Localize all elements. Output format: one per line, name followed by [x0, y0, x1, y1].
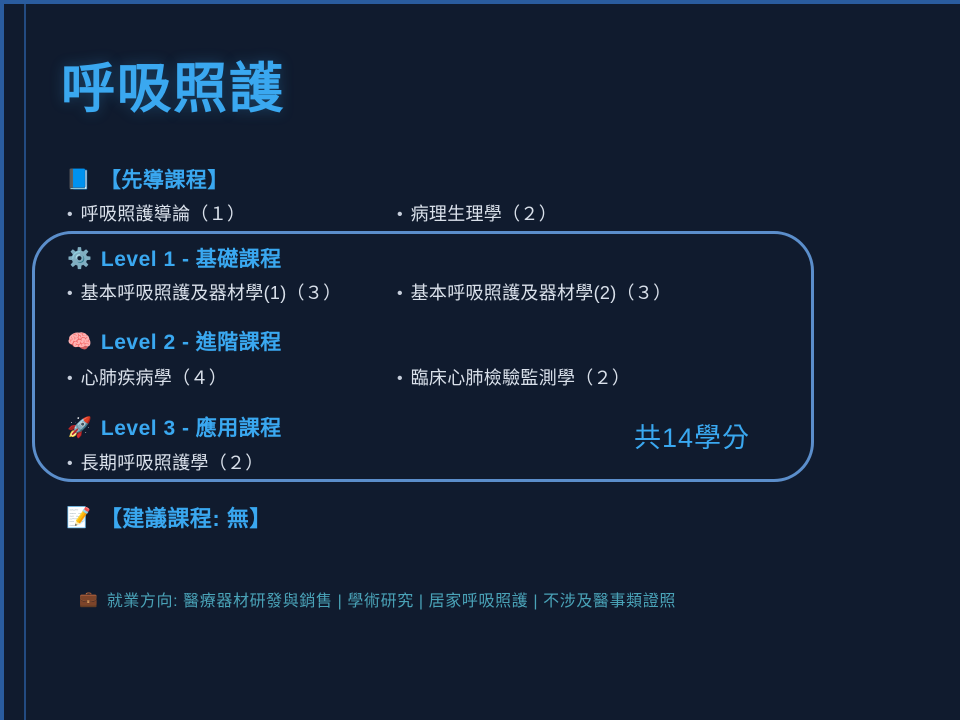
course-item: • 基本呼吸照護及器材學(1)（３） — [67, 279, 397, 305]
left-accent-rule — [24, 4, 26, 720]
course-item: • 臨床心肺檢驗監測學（２） — [397, 364, 797, 390]
career-direction: 💼 就業方向: 醫療器材研發與銷售 | 學術研究 | 居家呼吸照護 | 不涉及醫… — [79, 587, 676, 611]
brain-icon: 🧠 — [67, 331, 92, 351]
blue-book-icon: 📘 — [66, 169, 91, 189]
memo-pencil-icon: 📝 — [66, 507, 91, 527]
section-heading-level-1: ⚙️ Level 1 - 基礎課程 — [67, 243, 282, 273]
career-direction-text: 就業方向: 醫療器材研發與銷售 | 學術研究 | 居家呼吸照護 | 不涉及醫事類… — [107, 587, 676, 611]
section-heading-suggested: 📝 【建議課程: 無】 — [66, 501, 272, 533]
section-heading-pilot: 📘 【先導課程】 — [66, 164, 229, 194]
bullet-icon: • — [67, 456, 73, 472]
course-label: 基本呼吸照護及器材學(2)（３） — [411, 279, 672, 305]
section-heading-level-3: 🚀 Level 3 - 應用課程 — [67, 412, 282, 442]
section-heading-pilot-label: 【先導課程】 — [100, 164, 229, 194]
course-label: 病理生理學（２） — [411, 200, 557, 226]
course-label: 長期呼吸照護學（２） — [81, 449, 264, 475]
course-item: • 基本呼吸照護及器材學(2)（３） — [397, 279, 797, 305]
section-heading-level-2: 🧠 Level 2 - 進階課程 — [67, 326, 282, 356]
course-item: • 呼吸照護導論（１） — [67, 200, 397, 226]
bullet-icon: • — [67, 286, 73, 302]
course-row-level-2: • 心肺疾病學（４） • 臨床心肺檢驗監測學（２） — [67, 364, 827, 390]
section-heading-level-1-label: Level 1 - 基礎課程 — [101, 243, 282, 273]
bullet-icon: • — [397, 207, 403, 223]
course-row-level-1: • 基本呼吸照護及器材學(1)（３） • 基本呼吸照護及器材學(2)（３） — [67, 279, 827, 305]
course-item: • 長期呼吸照護學（２） — [67, 449, 397, 475]
course-label: 心肺疾病學（４） — [81, 364, 227, 390]
total-credits-badge: 共14學分 — [634, 416, 750, 455]
course-row-pilot: • 呼吸照護導論（１） • 病理生理學（２） — [67, 200, 827, 226]
section-heading-level-3-label: Level 3 - 應用課程 — [101, 412, 282, 442]
course-label: 呼吸照護導論（１） — [81, 200, 246, 226]
section-heading-suggested-label: 【建議課程: 無】 — [100, 501, 272, 533]
course-label: 基本呼吸照護及器材學(1)（３） — [81, 279, 342, 305]
bullet-icon: • — [67, 371, 73, 387]
bullet-icon: • — [67, 207, 73, 223]
course-item: • 心肺疾病學（４） — [67, 364, 397, 390]
slide-canvas: 呼吸照護 📘 【先導課程】 • 呼吸照護導論（１） • 病理生理學（２） ⚙️ … — [0, 0, 960, 720]
section-heading-level-2-label: Level 2 - 進階課程 — [101, 326, 282, 356]
course-label: 臨床心肺檢驗監測學（２） — [411, 364, 631, 390]
course-item: • 病理生理學（２） — [397, 200, 797, 226]
bullet-icon: • — [397, 286, 403, 302]
briefcase-icon: 💼 — [79, 592, 98, 607]
gear-icon: ⚙️ — [67, 248, 92, 268]
page-title: 呼吸照護 — [61, 61, 285, 118]
rocket-icon: 🚀 — [67, 417, 92, 437]
bullet-icon: • — [397, 371, 403, 387]
